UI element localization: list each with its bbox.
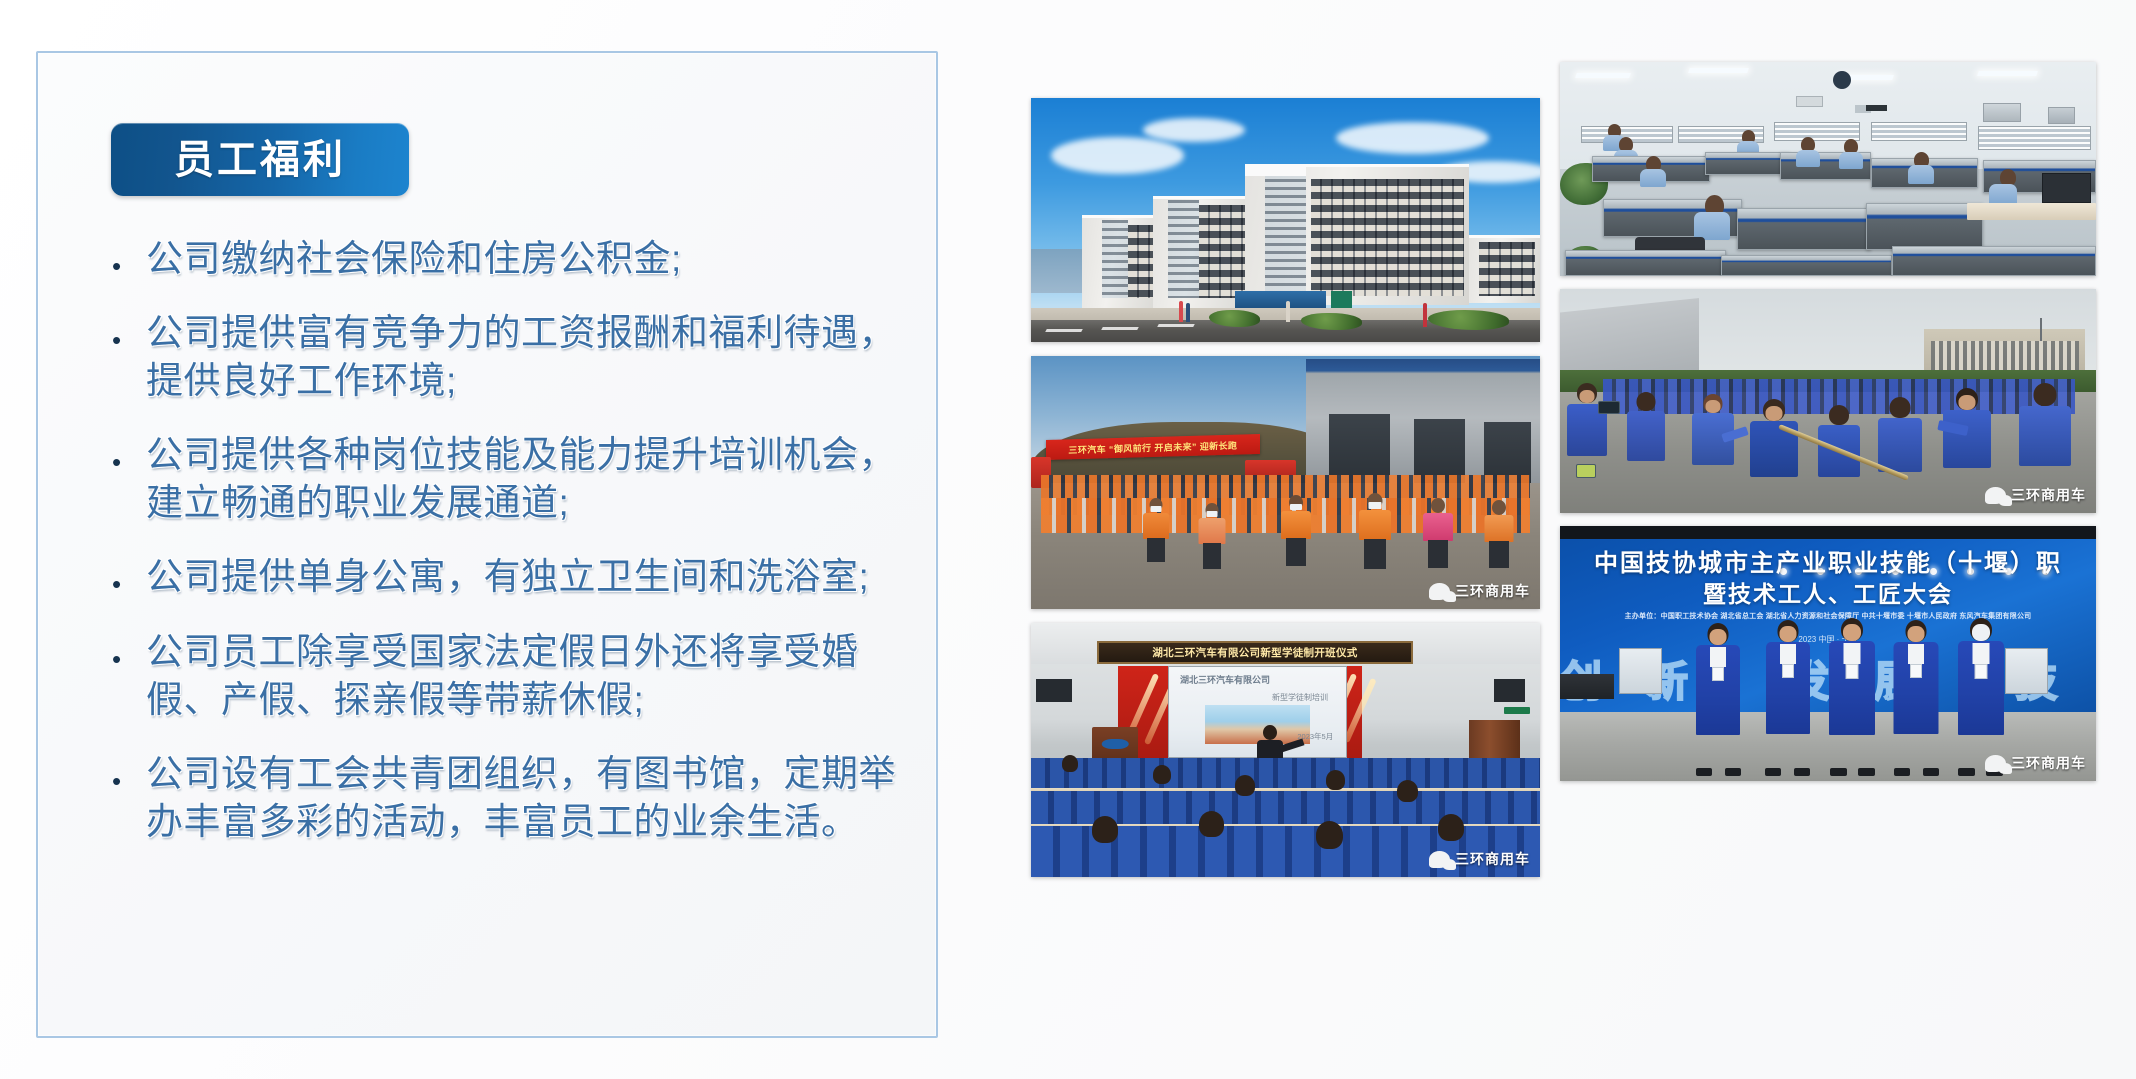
tug-puller	[1871, 397, 1930, 513]
cubicle-partition	[1978, 126, 2091, 150]
bullet-dot-icon: •	[112, 553, 146, 597]
ceiling-light	[1688, 68, 1749, 73]
uniform-jacket	[1943, 410, 1991, 468]
cubicle	[1737, 208, 1871, 251]
list-item: • 公司缴纳社会保险和住房公积金;	[112, 235, 902, 283]
presenter-head	[1263, 725, 1277, 740]
runner-legs	[1203, 543, 1221, 569]
employee-benefits-panel: 员工福利 • 公司缴纳社会保险和住房公积金; • 公司提供富有竞争力的工资报酬和…	[36, 51, 938, 1038]
wechat-icon	[1429, 851, 1450, 868]
cubicle	[1866, 203, 1984, 250]
cloud	[1051, 137, 1183, 174]
watermark-text: 三环商用车	[1455, 581, 1530, 601]
head	[1636, 392, 1655, 411]
watermark-text: 三环商用车	[1455, 849, 1530, 869]
wechat-icon	[1429, 583, 1450, 600]
photo-collage: 三环汽车 “御风前行 开启未来” 迎新长跑	[1031, 62, 2096, 1042]
attendee-head	[1235, 775, 1255, 796]
uniform-jacket	[1627, 411, 1665, 461]
monitor	[2042, 173, 2090, 203]
shoe	[1696, 768, 1712, 776]
factory-building	[1306, 359, 1540, 491]
runner-vest	[1198, 518, 1225, 544]
technician	[1823, 618, 1882, 776]
id-badge	[1782, 664, 1794, 678]
spectator	[1619, 392, 1673, 513]
cloud	[1143, 118, 1245, 142]
bullet-dot-icon: •	[112, 309, 146, 353]
runner-vest	[1423, 513, 1453, 541]
face	[1959, 395, 1976, 410]
watermark-text: 三环商用车	[2011, 485, 2086, 505]
runner-head	[1431, 498, 1445, 513]
shoe	[1725, 768, 1741, 776]
run-scene: 三环汽车 “御风前行 开启未来” 迎新长跑	[1031, 356, 1540, 609]
light-pole	[2040, 318, 2042, 340]
attendee-head	[1397, 780, 1418, 802]
photo-new-year-run-event: 三环汽车 “御风前行 开启未来” 迎新长跑	[1031, 356, 1540, 609]
section-title-label: 员工福利	[174, 140, 346, 180]
id-badge	[1712, 667, 1724, 681]
photo-open-plan-office	[1560, 62, 2096, 276]
bullet-dot-icon: •	[112, 628, 146, 672]
face	[1779, 626, 1796, 642]
watermark-text: 三环商用车	[2011, 753, 2086, 773]
face-mask	[1150, 506, 1161, 512]
benefit-text: 公司缴纳社会保险和住房公积金;	[146, 235, 902, 283]
wall-panel	[1796, 96, 1823, 107]
tug-puller	[1742, 399, 1806, 513]
building-floors	[1311, 179, 1464, 296]
face	[1705, 400, 1720, 413]
watermark: 三环商用车	[1429, 849, 1530, 869]
stage-sign	[2005, 648, 2048, 694]
face	[1766, 406, 1783, 421]
runner-head	[1492, 500, 1506, 515]
technician	[1887, 620, 1946, 776]
face-mask	[1290, 504, 1302, 510]
employee	[1839, 152, 1863, 169]
ceiling-light	[1575, 73, 1630, 78]
attendee-head	[1438, 814, 1464, 841]
runner	[1347, 493, 1403, 602]
lighting-truss	[1560, 526, 2096, 539]
cubicle	[1892, 246, 2096, 276]
uniform-jacket	[1878, 418, 1922, 472]
shoe	[1923, 768, 1939, 776]
technician	[1689, 623, 1748, 776]
pedestrian	[1179, 301, 1183, 323]
attendee-head	[1062, 755, 1078, 772]
road-marking	[1157, 324, 1194, 327]
benefits-bullet-list: • 公司缴纳社会保险和住房公积金; • 公司提供富有竞争力的工资报酬和福利待遇，…	[112, 235, 902, 846]
list-item: • 公司设有工会共青团组织，有图书馆，定期举办丰富多彩的活动，丰富员工的业余生活…	[112, 750, 902, 846]
tug-puller	[1683, 394, 1742, 513]
watermark: 三环商用车	[1429, 581, 1530, 601]
face-mask	[1368, 502, 1381, 509]
shoe	[1958, 768, 1975, 776]
stage-scene: 中国技协城市主产业职业技能（十堰）职 暨技术工人、工匠大会 主办单位：中国职工技…	[1560, 526, 2096, 781]
face	[1843, 624, 1861, 641]
list-item: • 公司员工除享受国家法定假日外还将享受婚假、产假、探亲假等带薪休假;	[112, 628, 902, 724]
watermark: 三环商用车	[1985, 753, 2086, 773]
wall-speaker	[1036, 679, 1072, 702]
runner-vest	[1143, 513, 1169, 539]
event-banner-text: 三环汽车 “御风前行 开启未来” 迎新长跑	[1069, 438, 1238, 456]
cubicle	[1565, 250, 1726, 276]
runner-legs	[1147, 538, 1165, 562]
list-item: • 公司提供富有竞争力的工资报酬和福利待遇，提供良好工作环境;	[112, 309, 902, 405]
runner	[1189, 503, 1235, 599]
photo-employee-apartment-building	[1031, 98, 1540, 342]
lanyard	[1908, 644, 1924, 664]
face	[1908, 626, 1925, 642]
ceremony-banner-text: 湖北三环汽车有限公司新型学徒制开班仪式	[1152, 645, 1357, 660]
building-glass	[1168, 200, 1199, 298]
attendee-head	[1092, 816, 1118, 843]
benefit-text: 公司设有工会共青团组织，有图书馆，定期举办丰富多彩的活动，丰富员工的业余生活。	[146, 750, 902, 846]
runner	[1270, 495, 1321, 599]
pedestrian	[1423, 303, 1427, 327]
attendee-head	[1316, 821, 1343, 849]
monitor	[1866, 105, 1887, 111]
watermark: 三环商用车	[1985, 485, 2086, 505]
cubicle-partition	[1774, 122, 1860, 141]
attendee-head	[1326, 770, 1345, 790]
building-glass	[1265, 171, 1306, 298]
shoe	[1894, 768, 1910, 776]
wechat-icon	[1985, 487, 2006, 504]
employee	[1908, 165, 1934, 184]
list-item: • 公司提供各种岗位技能及能力提升培训机会，建立畅通的职业发展通道;	[112, 431, 902, 527]
id-badge	[1846, 664, 1859, 679]
pedestrian	[1286, 301, 1290, 323]
bullet-dot-icon: •	[112, 750, 146, 794]
equipment-cabinet	[2048, 107, 2075, 124]
road-marking	[1045, 329, 1082, 332]
exit-sign-icon	[1504, 707, 1529, 715]
shoe	[1765, 768, 1781, 776]
screen-subtitle: 新型学徒制培训	[1272, 692, 1328, 703]
lanyard	[1844, 643, 1861, 664]
stage-monitor-box	[1560, 674, 1614, 700]
uniform-jacket	[2019, 406, 2071, 466]
screen-title: 湖北三环汽车有限公司	[1180, 673, 1270, 686]
building-glass	[1102, 220, 1127, 298]
benefit-text: 公司提供各种岗位技能及能力提升培训机会，建立畅通的职业发展通道;	[146, 431, 902, 527]
wall-clock-icon	[1833, 71, 1851, 89]
photo-skills-conference-group: 中国技协城市主产业职业技能（十堰）职 暨技术工人、工匠大会 主办单位：中国职工技…	[1560, 526, 2096, 781]
runner-legs	[1364, 539, 1386, 569]
face	[1710, 629, 1727, 645]
photo-apprenticeship-opening-ceremony: 湖北三环汽车有限公司新型学徒制开班仪式 湖北三环汽车有限公司 新型学徒制培训 2…	[1031, 623, 1540, 877]
equipment-cabinet	[1983, 103, 2021, 122]
lanyard	[1972, 643, 1989, 664]
ceiling-light	[1977, 71, 2038, 76]
benefit-text: 公司提供单身公寓，有独立卫生间和洗浴室;	[146, 553, 902, 601]
conference-title-line1: 中国技协城市主产业职业技能（十堰）职	[1560, 543, 2096, 578]
smartphone	[1576, 464, 1596, 478]
runner-legs	[1286, 538, 1306, 566]
list-item: • 公司提供单身公寓，有独立卫生间和洗浴室;	[112, 553, 902, 601]
runner-legs	[1428, 540, 1448, 568]
shoe	[1794, 768, 1810, 776]
wechat-icon	[1985, 755, 2006, 772]
audience-row	[1031, 758, 1540, 791]
office-scene	[1560, 62, 2096, 276]
smartphone	[1598, 401, 1620, 414]
runner	[1133, 498, 1179, 594]
shoe	[1830, 768, 1847, 776]
lanyard	[1710, 647, 1726, 667]
slide-canvas: 员工福利 • 公司缴纳社会保险和住房公积金; • 公司提供富有竞争力的工资报酬和…	[0, 0, 2136, 1079]
roof-slab	[1245, 164, 1306, 176]
face-mask	[1206, 511, 1217, 517]
head	[1829, 405, 1849, 425]
employee	[1796, 150, 1820, 167]
face	[1579, 390, 1594, 403]
lanyard	[1780, 644, 1796, 664]
ceremony-banner: 湖北三环汽车有限公司新型学徒制开班仪式	[1097, 641, 1413, 664]
tug-scene: 三环商用车	[1560, 289, 2096, 513]
wall-speaker	[1494, 679, 1525, 702]
company-logo-icon	[1102, 739, 1129, 750]
cloud	[1336, 122, 1489, 154]
section-title-badge: 员工福利	[111, 123, 409, 196]
head	[1890, 397, 1911, 418]
head	[2034, 383, 2057, 406]
runner-vest	[1359, 510, 1391, 540]
cubicle-partition	[1871, 122, 1967, 141]
face-mask	[1972, 624, 1990, 641]
benefit-text: 公司员工除享受国家法定假日外还将享受婚假、产假、探亲假等带薪休假;	[146, 628, 902, 724]
bullet-dot-icon: •	[112, 235, 146, 279]
runner-legs	[1489, 541, 1509, 568]
conference-title-line2: 暨技术工人、工匠大会	[1560, 575, 2096, 609]
employee	[1694, 212, 1730, 240]
stage-sign	[1619, 648, 1662, 694]
runner-vest	[1281, 511, 1311, 539]
pedestrian	[1186, 303, 1190, 323]
desk	[1967, 203, 2096, 220]
employee	[1989, 184, 2017, 205]
id-badge	[1974, 664, 1987, 679]
cubicle	[1721, 255, 1893, 276]
bullet-dot-icon: •	[112, 431, 146, 475]
shoe	[1858, 768, 1875, 776]
employee	[1640, 169, 1666, 187]
attendee-head	[1199, 811, 1224, 837]
road-marking	[1101, 327, 1138, 330]
cubicle	[1705, 152, 1791, 176]
attendee-head	[1153, 765, 1171, 784]
benefit-text: 公司提供富有竞争力的工资报酬和福利待遇，提供良好工作环境;	[146, 309, 902, 405]
photo-tug-of-war-activity: 三环商用车	[1560, 289, 2096, 513]
technician	[1758, 620, 1817, 776]
id-badge	[1910, 664, 1922, 678]
building-scene	[1031, 98, 1540, 342]
ceremony-scene: 湖北三环汽车有限公司新型学徒制开班仪式 湖北三环汽车有限公司 新型学徒制培训 2…	[1031, 623, 1540, 877]
runner-vest	[1485, 515, 1514, 542]
